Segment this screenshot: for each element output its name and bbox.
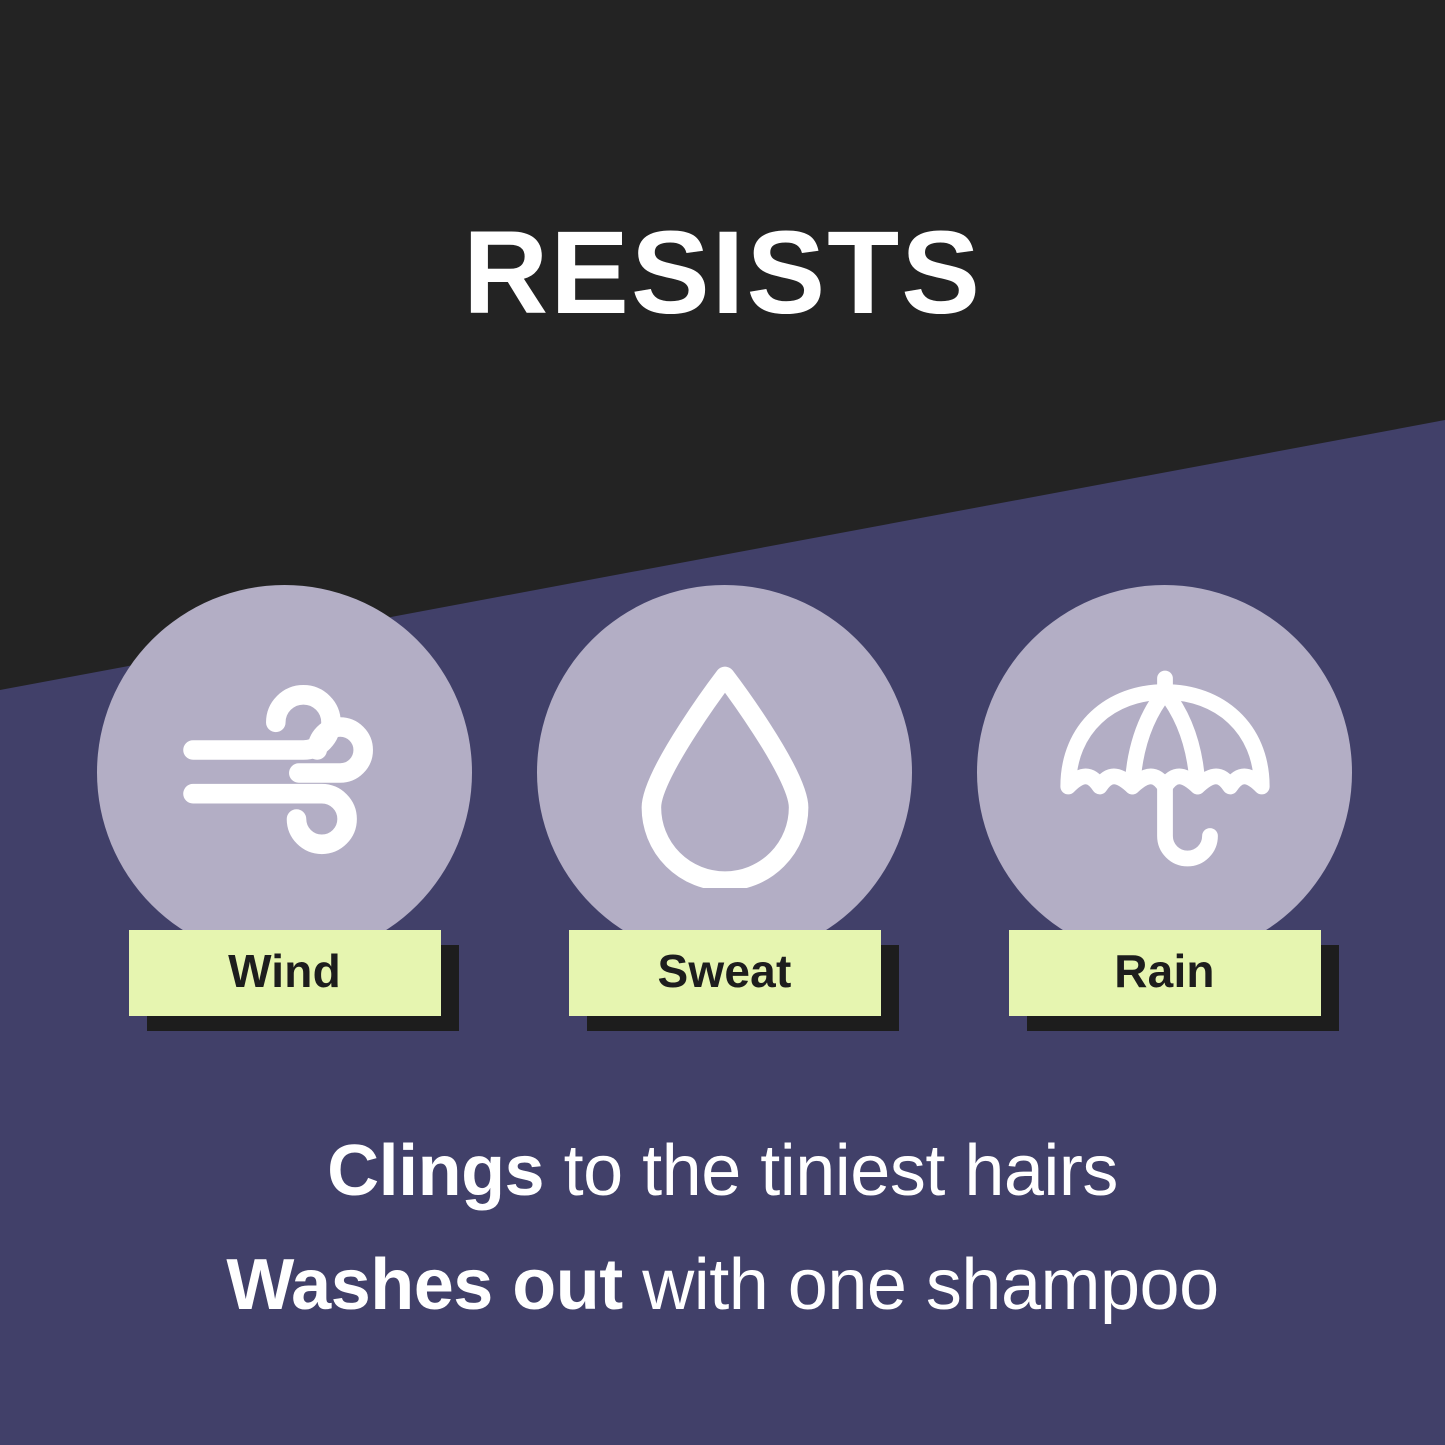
feature-icon-row: Wind Sweat (0, 585, 1445, 1025)
icon-circle-wind (97, 585, 472, 960)
feature-label-wind: Wind (129, 930, 441, 1016)
chip-wrap-rain: Rain (1009, 930, 1321, 1016)
tagline-2-rest: with one shampoo (623, 1245, 1219, 1325)
chip-wrap-sweat: Sweat (569, 930, 881, 1016)
tagline-line-2: Washes out with one shampoo (0, 1229, 1445, 1343)
feature-label-sweat: Sweat (569, 930, 881, 1016)
icon-circle-rain (977, 585, 1352, 960)
tagline-line-1: Clings to the tiniest hairs (0, 1115, 1445, 1229)
icon-circle-sweat (537, 585, 912, 960)
tagline-2-strong: Washes out (226, 1245, 622, 1325)
tagline-1-rest: to the tiniest hairs (544, 1131, 1118, 1211)
feature-item-rain: Rain (977, 585, 1352, 1025)
feature-label-rain: Rain (1009, 930, 1321, 1016)
chip-wrap-wind: Wind (129, 930, 441, 1016)
umbrella-icon (1052, 660, 1277, 885)
water-drop-icon (625, 658, 825, 888)
feature-item-sweat: Sweat (537, 585, 912, 1025)
feature-item-wind: Wind (97, 585, 472, 1025)
tagline-1-strong: Clings (327, 1131, 544, 1211)
page-title: RESISTS (0, 212, 1445, 336)
wind-icon (170, 658, 400, 888)
tagline-block: Clings to the tiniest hairs Washes out w… (0, 1115, 1445, 1343)
resists-feature-poster: RESISTS Wind (0, 0, 1445, 1445)
